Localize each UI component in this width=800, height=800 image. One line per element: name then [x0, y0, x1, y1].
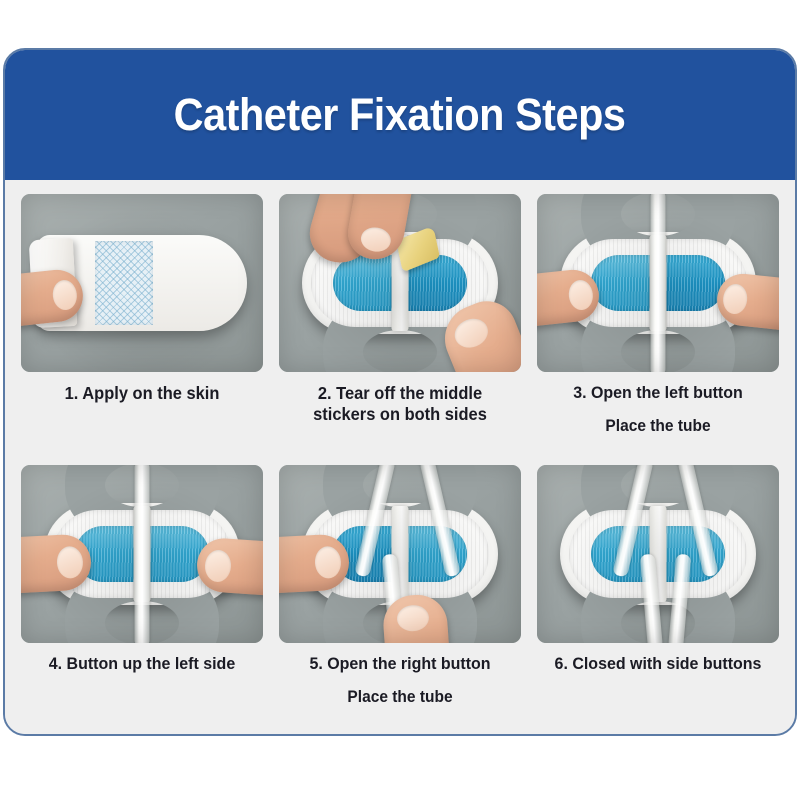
step-photo-5 [279, 465, 521, 643]
step-item-6: 6. Closed with side buttons [537, 465, 779, 732]
step-caption-wrap-5: 5. Open the right button Place the tube [279, 654, 521, 707]
fingernail-graphic [450, 314, 492, 353]
fingernail-graphic [314, 546, 342, 579]
step-subcaption-5: Place the tube [286, 688, 513, 707]
catheter-tube-graphic [651, 194, 666, 372]
step-item-3: 3. Open the left button Place the tube [537, 194, 779, 461]
step-caption-2: 2. Tear off the middle stickers on both … [286, 383, 513, 426]
fingernail-graphic [359, 225, 393, 254]
step-item-4: 4. Button up the left side [21, 465, 263, 732]
fingernail-graphic [51, 279, 78, 311]
step-caption-5: 5. Open the right button [286, 654, 513, 675]
fingernail-graphic [567, 279, 594, 311]
step-caption-wrap-2: 2. Tear off the middle stickers on both … [279, 383, 521, 426]
step-caption-wrap-1: 1. Apply on the skin [21, 383, 263, 404]
step-photo-2 [279, 194, 521, 372]
infographic-card: Catheter Fixation Steps [3, 48, 797, 736]
step-item-1: 1. Apply on the skin [21, 194, 263, 461]
step-item-5: 5. Open the right button Place the tube [279, 465, 521, 732]
header-bar: Catheter Fixation Steps [5, 50, 795, 180]
page-root: Catheter Fixation Steps [0, 0, 800, 800]
step-caption-6: 6. Closed with side buttons [544, 654, 771, 675]
fingernail-graphic [722, 283, 749, 315]
step-caption-4: 4. Button up the left side [28, 654, 255, 675]
step-caption-3: 3. Open the left button [544, 383, 771, 404]
step-photo-4 [21, 465, 263, 643]
step-caption-1: 1. Apply on the skin [28, 383, 255, 404]
steps-grid: 1. Apply on the skin [5, 180, 795, 736]
fingernail-graphic [397, 604, 431, 632]
fingernail-graphic [204, 549, 232, 583]
step-photo-3 [537, 194, 779, 372]
step-subcaption-3: Place the tube [544, 417, 771, 436]
fixation-pad-graphic [560, 503, 756, 605]
page-title: Catheter Fixation Steps [174, 89, 626, 141]
step-photo-6 [537, 465, 779, 643]
step-caption-wrap-6: 6. Closed with side buttons [537, 654, 779, 675]
mesh-window-graphic [95, 241, 153, 325]
step-caption-wrap-3: 3. Open the left button Place the tube [537, 383, 779, 436]
step-item-2: 2. Tear off the middle stickers on both … [279, 194, 521, 461]
step-photo-1 [21, 194, 263, 372]
catheter-tube-graphic [135, 465, 150, 643]
fingernail-graphic [56, 546, 84, 579]
step-caption-wrap-4: 4. Button up the left side [21, 654, 263, 675]
